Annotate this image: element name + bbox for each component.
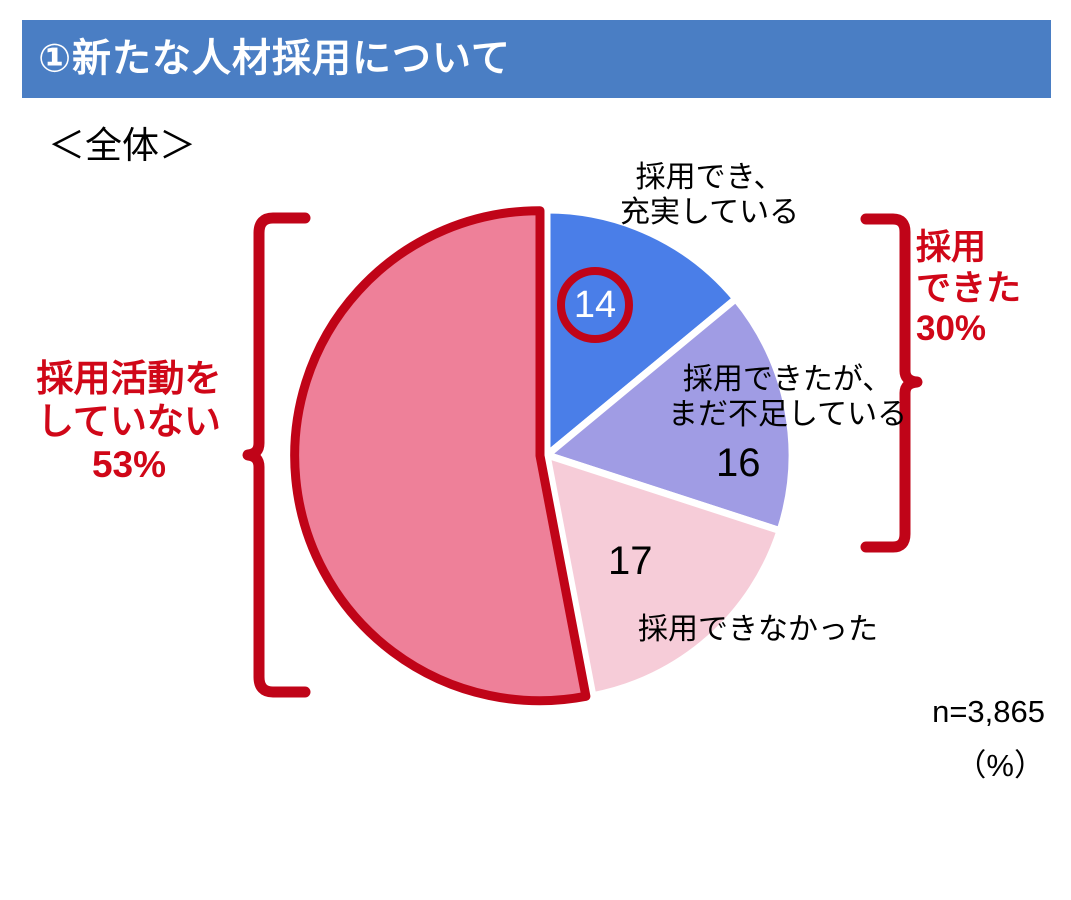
unit-label: （%） xyxy=(840,740,1045,785)
callout-hired: 採用 できた 30% xyxy=(916,228,1066,350)
label-insufficient-line1: 採用できたが、 xyxy=(668,362,907,397)
callout-right-line2: できた xyxy=(916,269,1066,310)
value-insufficient: 16 xyxy=(716,440,761,487)
callout-left-line1: 採用活動を xyxy=(18,358,240,401)
label-insufficient: 採用できたが、 まだ不足している xyxy=(668,362,907,433)
callout-right-line3: 30% xyxy=(916,309,1066,350)
value-not-hired: 17 xyxy=(608,538,653,585)
callout-no-recruiting: 採用活動を していない 53% xyxy=(18,358,240,487)
pie-slice-53 xyxy=(295,211,586,701)
label-fulfilled: 採用でき、 充実している xyxy=(620,160,799,231)
callout-left-line2: していない xyxy=(18,401,240,444)
callout-left-line3: 53% xyxy=(18,444,240,487)
label-fulfilled-line1: 採用でき、 xyxy=(620,160,799,195)
callout-right-line1: 採用 xyxy=(916,228,1066,269)
label-fulfilled-line2: 充実している xyxy=(620,195,799,230)
value-badge-fulfilled: 14 xyxy=(557,267,633,343)
pie-chart: 採用でき、 充実している 14 採用できたが、 まだ不足している 16 17 採… xyxy=(0,0,1071,900)
label-insufficient-line2: まだ不足している xyxy=(668,397,907,432)
label-not-hired: 採用できなかった xyxy=(638,612,878,647)
value-fulfilled-text: 14 xyxy=(574,286,616,324)
sample-size: n=3,865 xyxy=(840,694,1045,730)
